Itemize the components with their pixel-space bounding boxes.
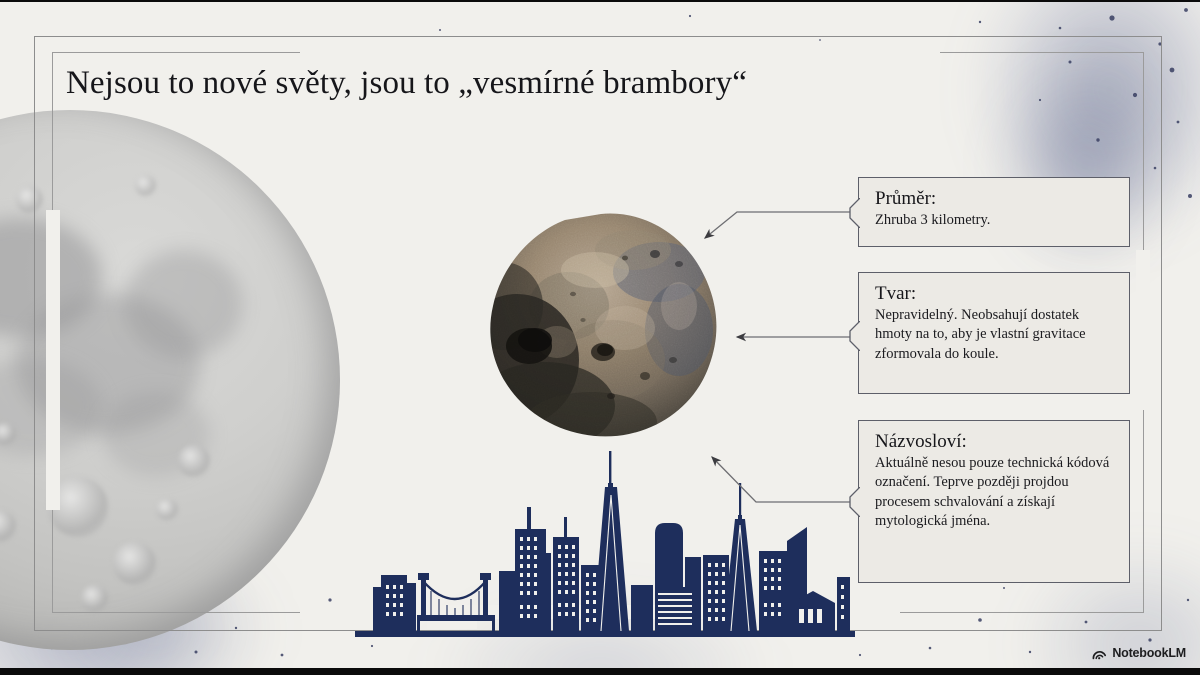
letterbox-bottom	[0, 668, 1200, 675]
callout-notch-icon	[848, 487, 860, 517]
callout-body: Nepravidelný. Neobsahují dostatek hmoty …	[875, 306, 1115, 364]
callout-prumer[interactable]: Průměr: Zhruba 3 kilometry.	[858, 177, 1130, 247]
callout-title: Průměr:	[875, 187, 1115, 210]
notebooklm-label: NotebookLM	[1112, 646, 1186, 660]
frame-gap-top	[300, 46, 940, 60]
asteroid-image	[483, 210, 733, 440]
callout-title: Názvosloví:	[875, 430, 1115, 453]
callout-nazvoslovi[interactable]: Názvosloví: Aktuálně nesou pouze technic…	[858, 420, 1130, 583]
callout-body: Aktuálně nesou pouze technická kódová oz…	[875, 454, 1115, 531]
frame-gap-left	[46, 210, 60, 510]
callout-notch-icon	[848, 321, 860, 351]
page-title: Nejsou to nové světy, jsou to „vesmírné …	[66, 63, 966, 104]
callout-tvar[interactable]: Tvar: Nepravidelný. Neobsahují dostatek …	[858, 272, 1130, 394]
letterbox-top	[0, 0, 1200, 2]
callout-notch-icon	[848, 198, 860, 228]
notebooklm-icon	[1092, 646, 1107, 660]
callout-body: Zhruba 3 kilometry.	[875, 211, 1115, 230]
frame-gap-right	[1136, 250, 1150, 410]
notebooklm-logo: NotebookLM	[1092, 646, 1186, 660]
callout-title: Tvar:	[875, 282, 1115, 305]
slide-canvas: Nejsou to nové světy, jsou to „vesmírné …	[0, 0, 1200, 675]
city-skyline-silhouette	[355, 445, 855, 645]
